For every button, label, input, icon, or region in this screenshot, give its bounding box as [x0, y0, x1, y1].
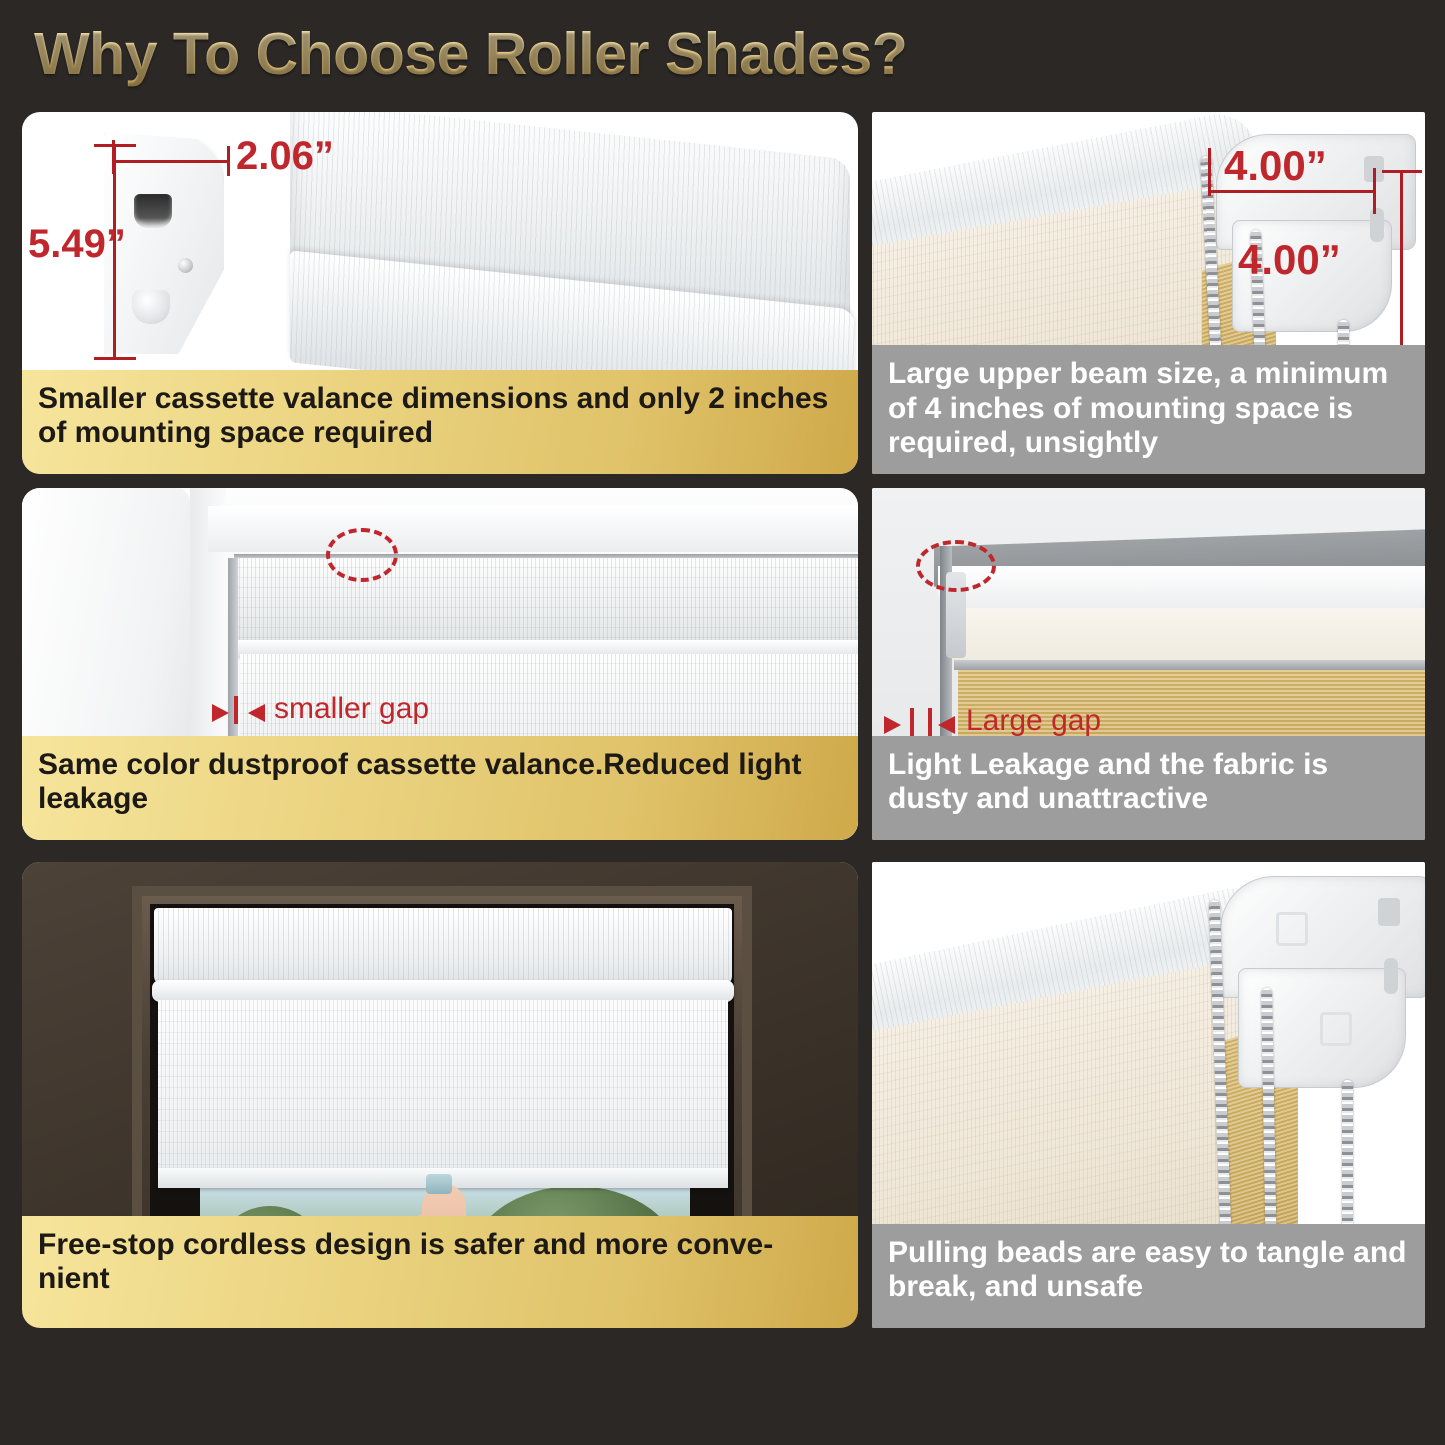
gap-arrow-left-icon [248, 704, 265, 722]
pro-caption-row3: Free-stop cordless design is safer and m… [22, 1216, 858, 1328]
bracket-keyhole-shape [1378, 898, 1400, 926]
bracket-arrow-mark-icon [1276, 912, 1308, 946]
pro-caption-row2: Same color dustproof cassette valance.Re… [22, 736, 858, 840]
comparison-grid: 2.06” 5.49” Smaller cassette valance dim… [0, 0, 1445, 1445]
gap-arrow-left-icon [938, 716, 955, 734]
fabric-edge-shadow [954, 660, 1425, 670]
gap-measure-line [234, 696, 238, 724]
beam-height-tick-top [1382, 170, 1422, 173]
gap-arrow-right-icon [884, 716, 901, 734]
width-dimension-label: 2.06” [236, 134, 334, 179]
con-caption-row3: Pulling beads are easy to tangle and bre… [872, 1224, 1425, 1328]
width-dimension-line [112, 160, 230, 163]
beam-height-dimension-label: 4.00” [1238, 236, 1341, 284]
width-dimension-tick-right [227, 146, 230, 176]
pro-caption-row1: Smaller cassette valance dimensions and … [22, 370, 858, 474]
panel-pro-cassette-dimensions: 2.06” 5.49” Smaller cassette valance dim… [22, 112, 858, 474]
gap-measure-line-b [928, 708, 932, 736]
pull-grip-shape [426, 1174, 452, 1194]
beam-width-dimension-label: 4.00” [1224, 142, 1327, 190]
panel-pro-smaller-gap: smaller gap Same color dustproof cassett… [22, 488, 858, 840]
valance-knob-shape [132, 290, 170, 324]
beam-height-dimension-line [1400, 170, 1403, 358]
height-dimension-tick-bottom [94, 357, 136, 360]
fabric-top-band-shape [952, 608, 1425, 664]
valance-face-shape [236, 558, 858, 648]
beam-width-tick-left [1208, 148, 1211, 196]
beam-width-dimension-line [1208, 190, 1376, 193]
cassette-valance-shape [154, 908, 732, 986]
gap-arrow-right-icon [212, 704, 229, 722]
brand-logo [382, 1162, 384, 1169]
con-caption-row2: Light Leakage and the fabric is dusty an… [872, 736, 1425, 840]
height-dimension-tick-top [94, 144, 136, 147]
window-head-casing-shape [208, 506, 858, 552]
bracket-slot-shape [1384, 958, 1398, 994]
large-gap-label: Large gap [966, 704, 1101, 738]
smaller-gap-label: smaller gap [274, 692, 429, 726]
beam-width-tick-right [1373, 168, 1376, 214]
valance-slot-shape [134, 194, 172, 228]
con-caption-row1: Large upper beam size, a minimum of 4 in… [872, 345, 1425, 474]
gap-highlight-ellipse [916, 540, 996, 592]
panel-con-pulling-beads: Pulling beads are easy to tangle and bre… [872, 862, 1425, 1328]
screw-icon [178, 258, 193, 273]
shade-fabric-shape [158, 1000, 728, 1186]
panel-con-large-beam: 4.00” 4.00” Large upper beam size, a min… [872, 112, 1425, 474]
panel-pro-cordless-design: Free-stop cordless design is safer and m… [22, 862, 858, 1328]
valance-lip-shape [152, 980, 734, 1002]
bracket-arrow-mark-lower-icon [1320, 1012, 1352, 1046]
height-dimension-label: 5.49” [28, 222, 126, 267]
gap-measure-line-a [910, 708, 914, 736]
panel-con-large-gap: Large gap Light Leakage and the fabric i… [872, 488, 1425, 840]
gap-highlight-ellipse [326, 528, 398, 582]
